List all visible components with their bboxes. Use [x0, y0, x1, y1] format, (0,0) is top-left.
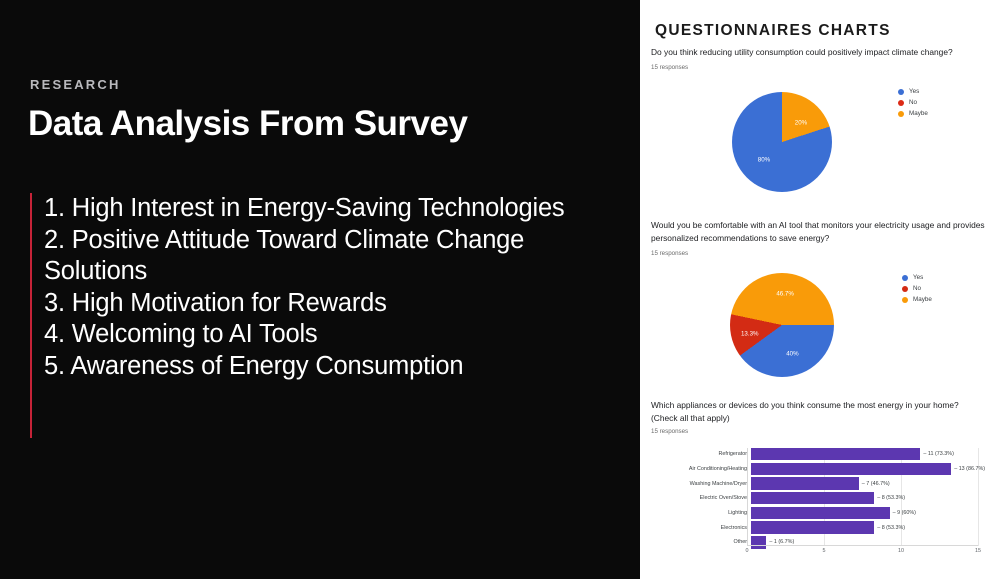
- legend-color-dot-icon: [898, 100, 904, 106]
- pie-2-slice-label-maybe: 46.7%: [776, 290, 794, 297]
- bar-row: Electric Oven/Stove 8 (53.3%): [685, 492, 985, 504]
- chart-3-question: Which appliances or devices do you think…: [651, 399, 986, 424]
- bar-track: 8 (53.3%): [751, 521, 985, 533]
- legend-color-dot-icon: [902, 297, 908, 303]
- bar-category-label: Air Conditioning/Heating: [685, 466, 751, 472]
- bar-value-label: 11 (73.3%): [920, 451, 953, 457]
- chart-3-responses: 15 responses: [651, 428, 688, 435]
- axis-line: [747, 545, 978, 546]
- x-axis-tick: 10: [898, 548, 904, 554]
- legend-item-label: No: [913, 285, 921, 292]
- list-item: 3. High Motivation for Rewards: [44, 288, 630, 320]
- bar-fill: [751, 463, 951, 475]
- list-item: 2. Positive Attitude Toward Climate Chan…: [44, 225, 630, 288]
- legend-color-dot-icon: [902, 275, 908, 281]
- bar-track: 9 (60%): [751, 507, 985, 519]
- bar-row: Lighting 9 (60%): [685, 507, 985, 519]
- bar-fill: [751, 477, 859, 489]
- list-item: 5. Awareness of Energy Consumption: [44, 351, 630, 383]
- bar-value-label: 13 (86.7%): [951, 466, 985, 472]
- bar-row: Electronics 8 (53.3%): [685, 521, 985, 533]
- pie-1-slice-label-yes: 80%: [758, 157, 770, 164]
- legend-item-label: Yes: [909, 88, 919, 95]
- legend-color-dot-icon: [898, 89, 904, 95]
- legend-item-label: Maybe: [909, 110, 928, 117]
- pie-2-slice-label-no: 13.3%: [741, 331, 759, 338]
- bar-track: 11 (73.3%): [751, 448, 985, 460]
- bar-value-label: 9 (60%): [890, 510, 916, 516]
- bar-category-label: Electric Oven/Stove: [685, 495, 751, 501]
- legend-color-dot-icon: [902, 286, 908, 292]
- x-axis-tick: 15: [975, 548, 981, 554]
- bar-row: Air Conditioning/Heating 13 (86.7%): [685, 463, 985, 475]
- findings-list: 1. High Interest in Energy-Saving Techno…: [30, 193, 630, 438]
- pie-2-graphic: 40% 13.3% 46.7%: [730, 273, 834, 377]
- x-axis-tick: 0: [746, 548, 749, 554]
- chart-1-question: Do you think reducing utility consumptio…: [651, 46, 986, 59]
- bar-fill: [751, 507, 890, 519]
- chart-3-bar-chart: Refrigerator 11 (73.3%) Air Conditioning…: [685, 448, 985, 553]
- legend-item-label: Maybe: [913, 296, 932, 303]
- x-axis-tick: 5: [823, 548, 826, 554]
- chart-1-responses: 15 responses: [651, 64, 688, 71]
- page-title: Data Analysis From Survey: [28, 104, 467, 144]
- legend-color-dot-icon: [898, 111, 904, 117]
- legend-item: Yes: [898, 88, 928, 95]
- chart-1-pie: 80% 20%: [732, 92, 832, 192]
- chart-1-legend: Yes No Maybe: [898, 88, 928, 121]
- legend-item: Maybe: [902, 296, 932, 303]
- charts-panel-title: QUESTIONNAIRES CHARTS: [655, 22, 891, 40]
- bar-track: 7 (46.7%): [751, 477, 985, 489]
- bar-category-label: Refrigerator: [685, 451, 751, 457]
- pie-1-graphic: 80% 20%: [732, 92, 832, 192]
- bar-value-label: 8 (53.3%): [874, 525, 905, 531]
- bar-track: 8 (53.3%): [751, 492, 985, 504]
- eyebrow-label: RESEARCH: [30, 77, 121, 92]
- bar-category-label: Lighting: [685, 510, 751, 516]
- legend-item: Yes: [902, 274, 932, 281]
- bar-fill: [751, 448, 920, 460]
- legend-item-label: Yes: [913, 274, 923, 281]
- chart-2-responses: 15 responses: [651, 250, 688, 257]
- pie-2-slice-label-yes: 40%: [786, 351, 798, 358]
- bar-category-label: Electronics: [685, 525, 751, 531]
- bar-fill: [751, 492, 874, 504]
- left-dark-panel: RESEARCH Data Analysis From Survey 1. Hi…: [0, 0, 640, 579]
- list-item: 1. High Interest in Energy-Saving Techno…: [44, 193, 630, 225]
- bar-fill: [751, 521, 874, 533]
- bar-value-label: 7 (46.7%): [859, 481, 890, 487]
- chart-2-question: Would you be comfortable with an AI tool…: [651, 219, 986, 244]
- bar-chart-x-axis: 0 5 10 15: [747, 545, 978, 559]
- slide: RESEARCH Data Analysis From Survey 1. Hi…: [0, 0, 1000, 579]
- legend-item-label: No: [909, 99, 917, 106]
- bar-category-label: Other: [685, 539, 751, 545]
- bar-category-label: Washing Machine/Dryer: [685, 481, 751, 487]
- pie-1-slice-label-maybe: 20%: [795, 120, 807, 127]
- bar-row: Refrigerator 11 (73.3%): [685, 448, 985, 460]
- bar-row: Washing Machine/Dryer 7 (46.7%): [685, 477, 985, 489]
- chart-2-legend: Yes No Maybe: [902, 274, 932, 307]
- legend-item: No: [898, 99, 928, 106]
- chart-2-pie: 40% 13.3% 46.7%: [730, 273, 834, 377]
- legend-item: Maybe: [898, 110, 928, 117]
- list-item: 4. Welcoming to AI Tools: [44, 319, 630, 351]
- legend-item: No: [902, 285, 932, 292]
- bar-value-label: 8 (53.3%): [874, 495, 905, 501]
- bar-track: 13 (86.7%): [751, 463, 985, 475]
